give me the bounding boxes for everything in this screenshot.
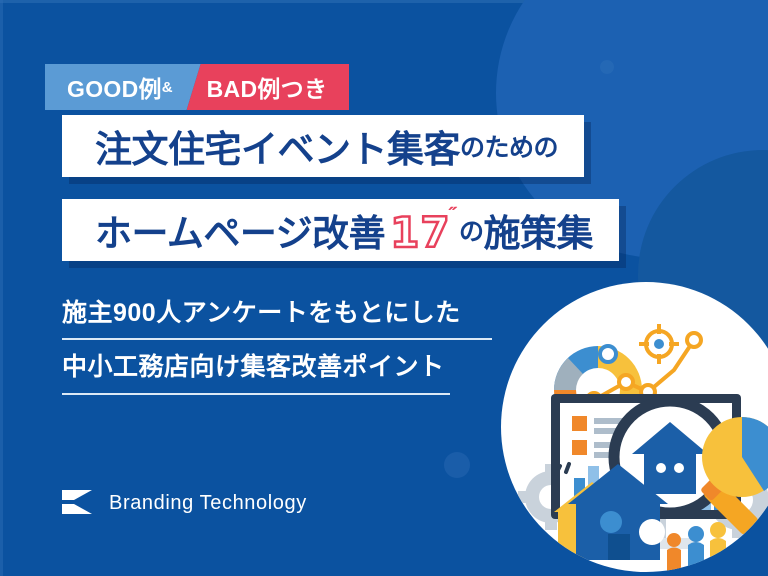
person-blue [688, 526, 704, 574]
subtitle-divider-2 [62, 393, 450, 395]
title-line2-particle: の [459, 212, 484, 248]
title-bar-line2: ホームページ改善 17 ´´ の 施策集 [62, 199, 619, 261]
title-number-accent-marks: ´´ [448, 205, 455, 228]
subtitle-line2: 中小工務店向け集客改善ポイント [62, 354, 492, 380]
title-line2-main-b: 施策集 [483, 203, 593, 257]
subtitle-divider-1 [62, 338, 492, 340]
target-center-dot [654, 339, 664, 349]
example-badge: GOOD例 & BAD例つき [45, 64, 349, 110]
badge-bad-label: BAD例つき [207, 70, 328, 104]
title-bar-line1: 注文住宅イベント集客 のための [62, 115, 584, 177]
decorative-dot [444, 452, 470, 478]
title-line1-main: 注文住宅イベント集客 [95, 119, 460, 173]
badge-good-label: GOOD例 [67, 70, 162, 104]
brand-logo-text: Branding Technology [109, 492, 307, 515]
person-yellow [710, 522, 726, 574]
website-analytics-housing-illustration [496, 282, 768, 576]
title-line2-main-a: ホームページ改善 [95, 203, 385, 257]
badge-ampersand: & [162, 79, 173, 96]
double-chevron-icon [62, 489, 96, 517]
left-edge-highlight [0, 0, 3, 576]
title-line1-sub: のための [460, 128, 558, 164]
subtitle-line1: 施主900人アンケートをもとにした [62, 300, 492, 326]
cover-page: GOOD例 & BAD例つき 注文住宅イベント集客 のための ホームページ改善 … [0, 0, 768, 576]
brand-logo: Branding Technology [62, 489, 307, 517]
subtitle-block: 施主900人アンケートをもとにした 中小工務店向け集客改善ポイント [62, 300, 492, 395]
person-orange [667, 533, 681, 573]
badge-good-section: GOOD例 & [45, 64, 201, 110]
decorative-dot-small [600, 60, 614, 74]
badge-bad-section: BAD例つき [187, 64, 350, 110]
title-number-17: 17 [390, 208, 450, 257]
